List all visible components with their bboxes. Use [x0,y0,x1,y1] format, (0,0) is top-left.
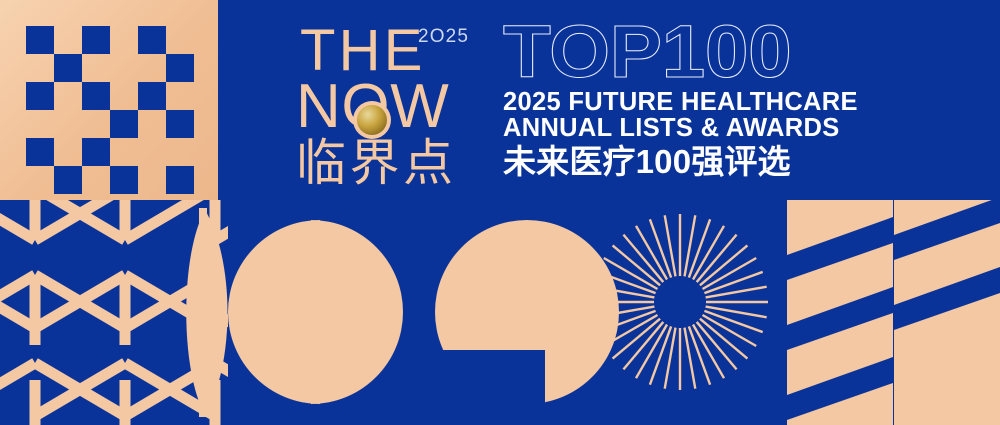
gold-orb-icon [353,101,391,139]
checkerboard-cell [110,26,138,54]
checkerboard-cell [54,82,82,110]
checkerboard-cell [26,26,54,54]
checkerboard-cell [82,54,110,82]
checkerboard-cell [54,54,82,82]
checkerboard-cell [82,138,110,166]
sunburst-icon [590,212,770,392]
checkerboard-cell [138,82,166,110]
checkerboard-cell [110,166,138,194]
logo-year-text: 2O25 [418,26,469,48]
checkerboard-cell [110,54,138,82]
headline-cn-line: 未来医疗100强评选 [503,144,843,180]
checkerboard-cell [26,82,54,110]
checkerboard-cell [110,82,138,110]
notch-square-cutout [435,350,545,425]
checkerboard-cell [138,54,166,82]
checkerboard-cell [110,138,138,166]
sunburst-block [590,212,770,392]
checkerboard-cell [138,26,166,54]
lens-leaf-shape [0,200,228,425]
checkerboard-cell [82,110,110,138]
headline-en-line1: 2025 FUTURE HEALTHCARE [503,89,843,115]
checkerboard-cell [166,110,194,138]
checkerboard-cell [54,138,82,166]
logo-chinese-text: 临界点 [296,138,457,188]
checkerboard-grid [26,26,194,194]
diagonal-stripes-icon [787,200,1000,425]
checkerboard-cell [166,54,194,82]
checkerboard-cell [166,166,194,194]
checkerboard-cell [54,166,82,194]
semicircle-left [228,220,320,404]
diagonal-stripes-block [787,200,1000,425]
the-now-logo: THE 2O25 NOW 临界点 [296,22,486,197]
lens-leaf-icon [0,200,228,425]
headline-en-line2: ANNUAL LISTS & AWARDS [503,115,843,141]
checkerboard-cell [138,166,166,194]
checkerboard-cell [166,82,194,110]
checkerboard-cell [82,82,110,110]
checkerboard-cell [82,26,110,54]
checkerboard-cell [54,110,82,138]
checkerboard-cell [54,26,82,54]
checkerboard-cell [26,166,54,194]
checkerboard-cell [26,54,54,82]
checkerboard-cell [26,138,54,166]
checkerboard-cell [82,166,110,194]
headline-block: TOP100 2025 FUTURE HEALTHCARE ANNUAL LIS… [503,22,843,180]
poster-canvas: THE 2O25 NOW 临界点 TOP100 2025 FUTURE HEAL… [0,0,1000,425]
checkerboard-cell [166,26,194,54]
checkerboard-cell [138,138,166,166]
checkerboard-cell [138,110,166,138]
semicircle-right [311,220,403,404]
checkerboard-cell [166,138,194,166]
checkerboard-block [0,0,218,200]
checkerboard-cell [26,110,54,138]
top100-title: TOP100 [503,22,863,83]
checkerboard-cell [110,110,138,138]
